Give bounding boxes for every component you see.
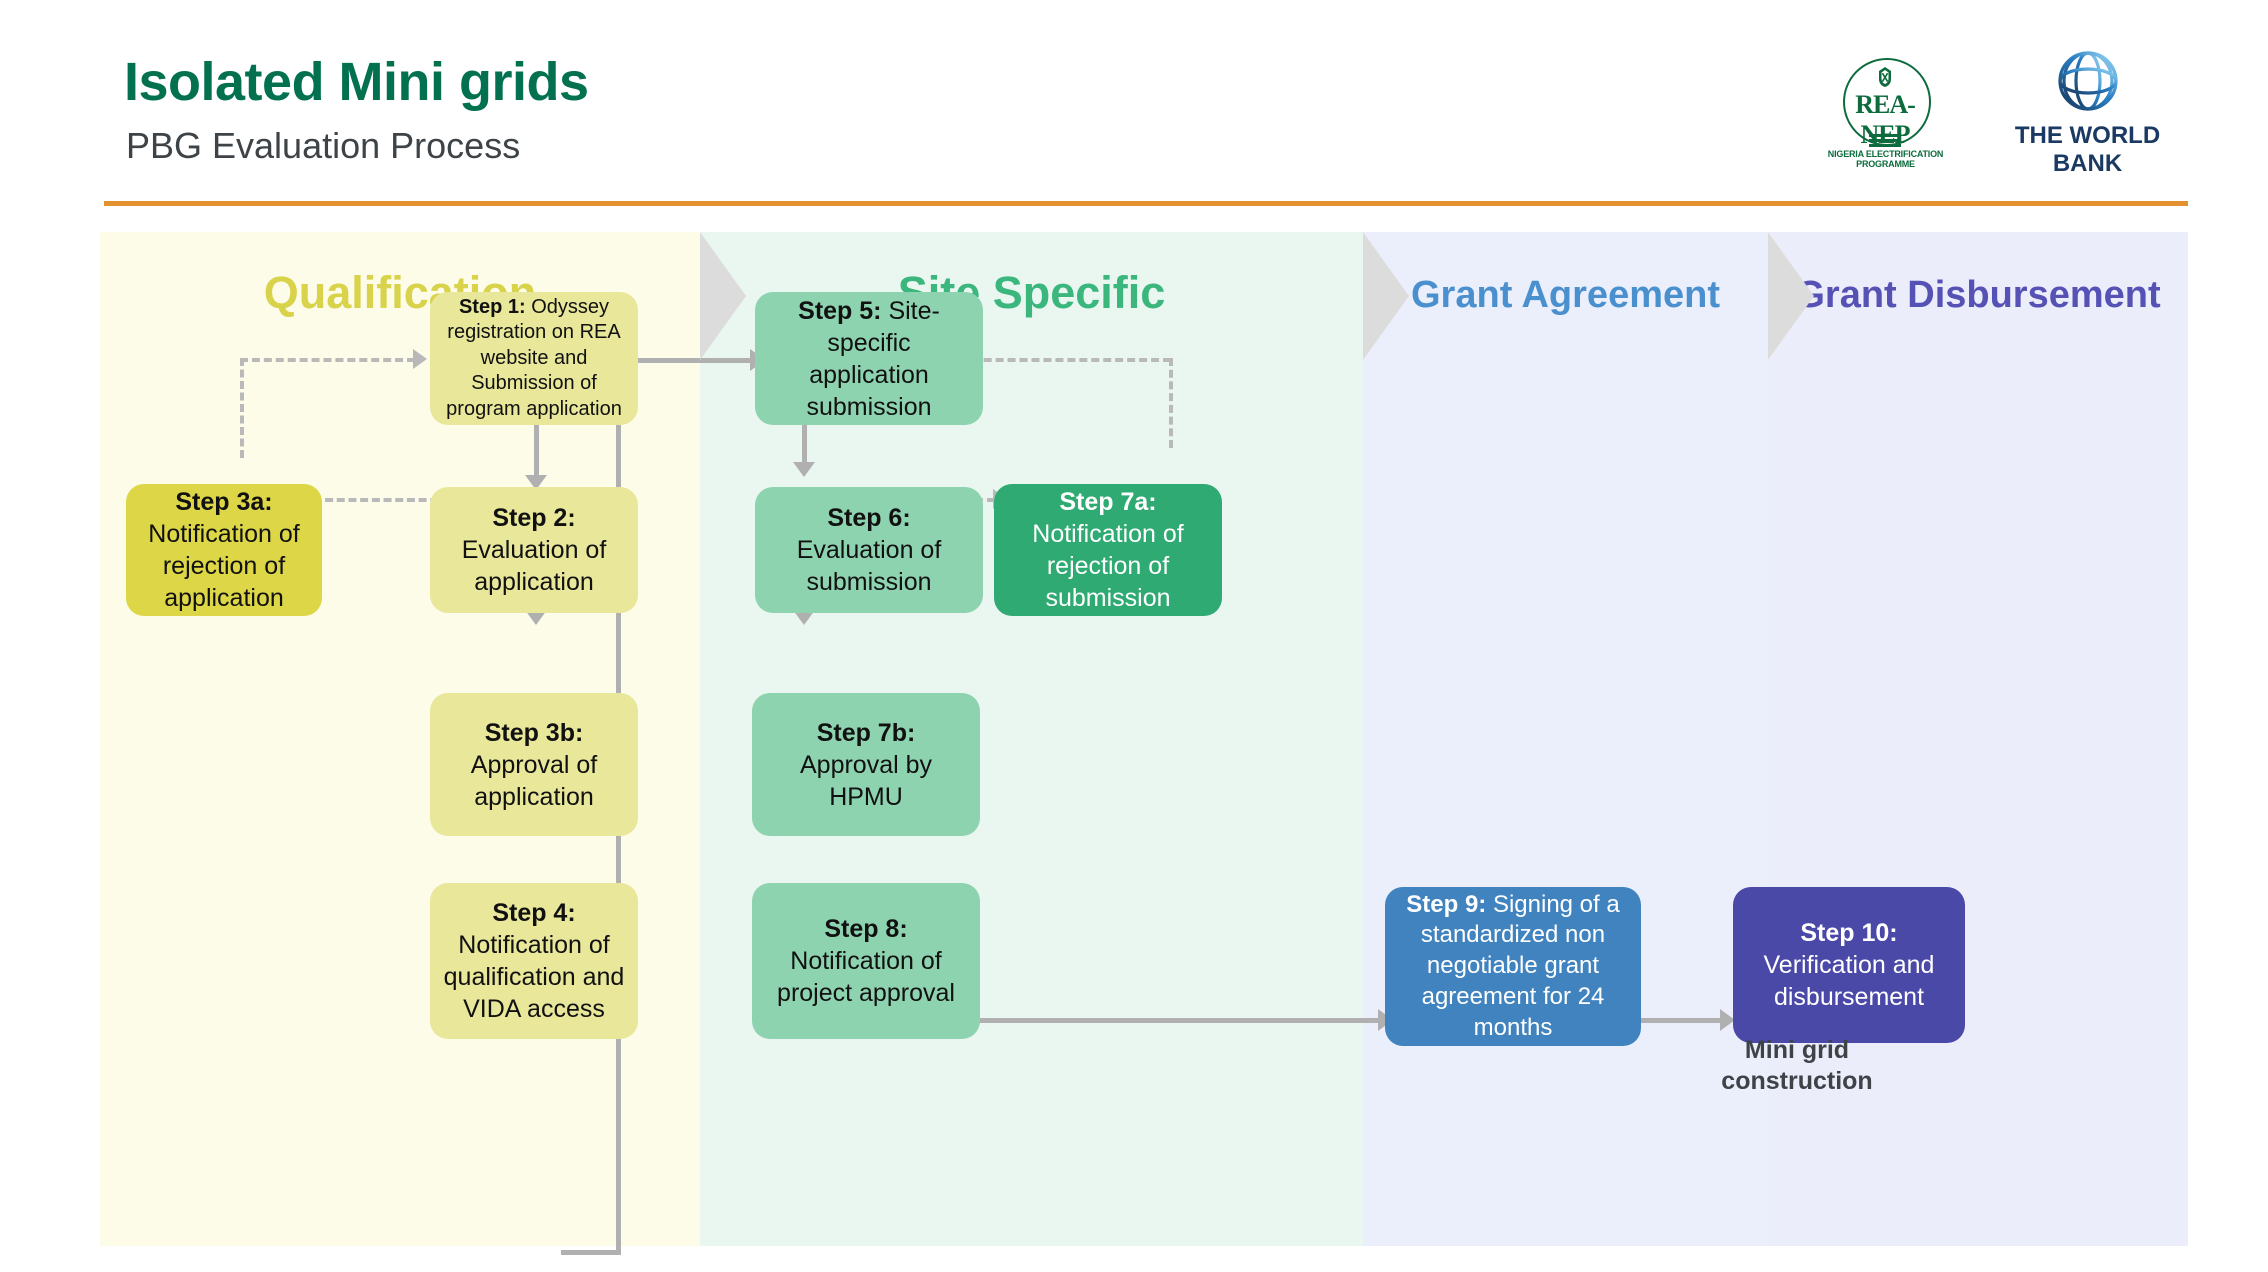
step8-text: Notification of project approval [777,947,955,1007]
lane-title-grant-agreement: Grant Agreement [1363,276,1768,314]
lane-chevron-3 [1768,232,1814,360]
step7a-label: Step 7a: [1059,488,1156,516]
connector-step7a-step5-vertical [1169,358,1173,448]
arrowhead-step3a-step1 [413,349,427,369]
step5-label: Step 5: [798,297,881,325]
step-box-step4[interactable]: Step 4:Notification of qualification and… [430,883,638,1039]
rea-bars-icon [1869,134,1901,149]
step7a-text: Notification of rejection of submission [1032,520,1183,612]
step-box-step2[interactable]: Step 2:Evaluation of application [430,487,638,613]
step3b-label: Step 3b: [485,719,584,747]
step-box-step10[interactable]: Step 10:Verification and disbursement [1733,887,1965,1043]
connector-step1-step2 [534,422,539,482]
rea-nep-subtitle: NIGERIA ELECTRIFICATION PROGRAMME [1813,149,1958,169]
connector-step4-step5-bottom [561,1250,621,1255]
step-box-step8[interactable]: Step 8:Notification of project approval [752,883,980,1039]
step-box-step3a[interactable]: Step 3a:Notification of rejection of app… [126,484,322,616]
arrowhead-step5-step6 [793,462,815,477]
connector-step3a-step1-horizontal [240,358,415,362]
step8-label: Step 8: [824,915,907,943]
world-bank-wordmark: THE WORLD BANK [2000,122,2175,178]
step2-text: Evaluation of application [462,536,607,596]
page-header: Isolated Mini grids PBG Evaluation Proce… [0,0,2268,213]
globe-icon [2057,50,2119,112]
step6-label: Step 6: [827,504,910,532]
step10-text: Verification and disbursement [1764,951,1935,1011]
step6-text: Evaluation of submission [797,536,942,596]
nigeria-crest-icon [1875,66,1895,88]
step3b-text: Approval of application [471,751,597,811]
step-box-step3b[interactable]: Step 3b:Approval of application [430,693,638,836]
rea-nep-logo: REA-NEP NIGERIA ELECTRIFICATION PROGRAMM… [1813,50,1958,160]
step-box-step9[interactable]: Step 9: Signing of a standardized non ne… [1385,887,1641,1046]
step10-label: Step 10: [1800,919,1897,947]
header-divider [104,201,2188,206]
step7b-text: Approval by HPMU [800,751,932,811]
step7b-label: Step 7b: [817,719,916,747]
world-bank-logo: THE WORLD BANK [2000,50,2175,162]
lane-title-grant-disbursement: Grant Disbursement [1768,276,2188,314]
annotation-mini-grid-construction: Mini grid construction [1707,1035,1887,1096]
page-title: Isolated Mini grids [124,55,589,109]
step-box-step6[interactable]: Step 6:Evaluation of submission [755,487,983,613]
step4-text: Notification of qualification and VIDA a… [444,931,625,1023]
page-subtitle: PBG Evaluation Process [126,128,520,164]
step-box-step5[interactable]: Step 5: Site-specific application submis… [755,292,983,425]
step9-label: Step 9: [1406,891,1486,918]
step2-label: Step 2: [492,504,575,532]
step3a-text: Notification of rejection of application [148,520,299,612]
step3a-label: Step 3a: [175,488,272,516]
step4-label: Step 4: [492,899,575,927]
step1-label: Step 1: [459,296,526,318]
lane-chevron-1 [700,232,746,360]
connector-step3a-step1-vertical [240,358,244,458]
step-box-step7a[interactable]: Step 7a:Notification of rejection of sub… [994,484,1222,616]
lane-chevron-2 [1363,232,1409,360]
step-box-step7b[interactable]: Step 7b:Approval by HPMU [752,693,980,836]
step-box-step1[interactable]: Step 1: Odyssey registration on REA webs… [430,292,638,425]
